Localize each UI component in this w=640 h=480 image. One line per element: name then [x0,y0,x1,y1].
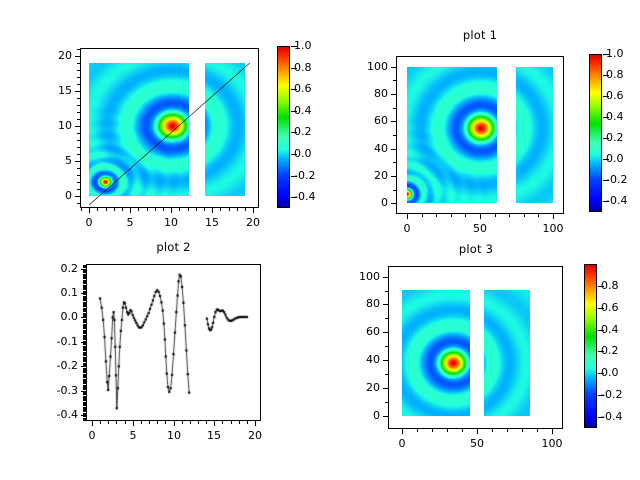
colorbar-plot0[interactable] [277,46,290,208]
minor-tick-y [83,371,86,372]
major-tick-x [407,214,408,219]
minor-tick-y [77,182,80,183]
minor-tick-y [83,274,86,275]
minor-tick-y [83,403,86,404]
minor-tick-y [83,322,86,323]
minor-tick-y [83,368,86,369]
colorbar-tick-label: 0.0 [606,153,624,164]
minor-tick-y [83,353,86,354]
minor-tick-y [83,381,86,382]
major-tick-y [75,56,80,57]
colorbar-tick-label: -0.4 [294,191,315,202]
y-tick-label: 20 [340,382,380,393]
minor-tick-y [83,385,86,386]
minor-tick-x [422,214,423,217]
minor-tick-y [83,397,86,398]
y-tick-label: 0 [340,410,380,421]
minor-tick-y [83,321,86,322]
x-tick-label: 0 [382,438,422,449]
axes-frame-plot3[interactable] [388,266,563,429]
minor-tick-y [393,108,396,109]
minor-tick-y [83,350,86,351]
x-tick-label: 20 [235,430,275,441]
colorbar-tick-label: 0.8 [606,69,624,80]
minor-tick-y [83,408,86,409]
major-tick-y [383,360,388,361]
minor-tick-y [77,63,80,64]
minor-tick-x [198,421,199,424]
minor-tick-x [462,429,463,432]
y-tick-label: -0.3 [38,385,78,396]
heatmap-patch [205,63,245,196]
minor-tick-x [190,421,191,424]
minor-tick-y [83,386,86,387]
minor-tick-y [83,410,86,411]
minor-tick-y [83,277,86,278]
minor-tick-y [83,272,86,273]
major-tick-y [81,269,86,270]
x-tick-label: 50 [457,438,497,449]
minor-tick-y [83,282,86,283]
minor-tick-y [83,377,86,378]
minor-tick-x [97,208,98,211]
minor-tick-y [83,361,86,362]
minor-tick-y [83,347,86,348]
y-tick-label: 20 [32,50,72,61]
y-tick-label: 5 [32,155,72,166]
minor-tick-x [116,421,117,424]
colorbar-tick-label: 0.6 [294,83,312,94]
minor-tick-y [83,335,86,336]
colorbar-tick-label: 0.4 [601,324,619,335]
minor-tick-x [81,208,82,211]
y-tick-label: -0.1 [38,336,78,347]
minor-tick-y [385,374,388,375]
minor-tick-y [393,80,396,81]
minor-tick-y [83,336,86,337]
minor-tick-y [83,267,86,268]
y-tick-label: 40 [340,354,380,365]
heatmap-patch [89,63,189,196]
minor-tick-y [83,354,86,355]
y-tick-label: 10 [32,120,72,131]
minor-tick-y [83,357,86,358]
colorbar-tick-label: 0.8 [294,62,312,73]
minor-tick-x [436,214,437,217]
colorbar-tick-label: -0.4 [606,195,627,206]
y-tick-label: 15 [32,85,72,96]
minor-tick-y [83,355,86,356]
minor-tick-x [206,421,207,424]
major-tick-y [75,91,80,92]
minor-tick-y [83,325,86,326]
minor-tick-x [222,421,223,424]
colorbar-tick-label: 0.0 [294,148,312,159]
major-tick-x [255,421,256,426]
minor-tick-x [524,214,525,217]
y-tick-label: 80 [348,88,388,99]
minor-tick-x [239,421,240,424]
major-tick-y [391,67,396,68]
minor-tick-y [83,413,86,414]
colorbar-tick-label: 0.6 [606,90,624,101]
minor-tick-y [83,311,86,312]
minor-tick-y [83,339,86,340]
major-tick-y [391,149,396,150]
major-tick-x [253,208,254,213]
minor-tick-x [522,429,523,432]
minor-tick-y [83,300,86,301]
minor-tick-y [83,418,86,419]
minor-tick-x [114,208,115,211]
minor-tick-y [77,105,80,106]
minor-tick-x [155,208,156,211]
minor-tick-y [83,358,86,359]
y-tick-label: -0.2 [38,360,78,371]
minor-tick-x [432,429,433,432]
minor-tick-y [83,382,86,383]
minor-tick-x [447,429,448,432]
minor-tick-y [83,376,86,377]
minor-tick-y [83,286,86,287]
colorbar-tick-label: 0.6 [601,302,619,313]
minor-tick-x [492,429,493,432]
minor-tick-y [83,352,86,353]
y-tick-label: 20 [348,170,388,181]
major-tick-x [133,421,134,426]
minor-tick-x [231,421,232,424]
minor-tick-y [77,70,80,71]
minor-tick-y [83,392,86,393]
minor-tick-y [385,402,388,403]
minor-tick-y [77,133,80,134]
minor-tick-y [83,402,86,403]
minor-tick-x [465,214,466,217]
major-tick-y [75,126,80,127]
minor-tick-y [83,389,86,390]
major-tick-y [81,391,86,392]
y-tick-label: 0.1 [38,287,78,298]
major-tick-y [383,388,388,389]
colorbar-plot3[interactable] [584,264,597,428]
major-tick-y [81,293,86,294]
x-tick-label: 10 [154,430,194,441]
minor-tick-y [83,346,86,347]
y-tick-label: 60 [340,326,380,337]
minor-tick-y [83,328,86,329]
colorbar-tick-label: -0.2 [606,174,627,185]
minor-tick-y [83,303,86,304]
minor-tick-y [77,84,80,85]
minor-tick-y [83,343,86,344]
minor-tick-x [149,421,150,424]
y-tick-label: 100 [348,61,388,72]
y-tick-label: 0 [32,190,72,201]
x-tick-label: 100 [532,438,572,449]
x-tick-label: 20 [233,217,273,228]
colorbar-tick-label: 0.2 [601,345,619,356]
minor-tick-y [83,320,86,321]
minor-tick-y [83,359,86,360]
major-tick-y [391,121,396,122]
panel-title-plot1: plot 1 [380,28,580,42]
minor-tick-y [83,337,86,338]
major-tick-y [383,332,388,333]
minor-tick-y [83,400,86,401]
minor-tick-y [83,404,86,405]
minor-tick-y [83,276,86,277]
minor-tick-y [83,394,86,395]
major-tick-x [553,214,554,219]
line-series-canvas [87,265,260,420]
major-tick-x [171,208,172,213]
major-tick-y [391,203,396,204]
minor-tick-x [125,421,126,424]
colorbar-tick-label: 0.4 [606,111,624,122]
major-tick-y [75,161,80,162]
minor-tick-y [83,299,86,300]
axes-frame-plot0[interactable] [80,48,259,208]
minor-tick-y [83,304,86,305]
y-tick-label: 100 [340,271,380,282]
minor-tick-x [417,429,418,432]
colorbar-tick-label: 1.0 [606,48,624,59]
minor-tick-x [245,208,246,211]
minor-tick-y [77,203,80,204]
x-tick-label: 5 [110,217,150,228]
minor-tick-x [220,208,221,211]
minor-tick-y [83,275,86,276]
minor-tick-y [393,135,396,136]
minor-tick-y [83,380,86,381]
minor-tick-y [83,266,86,267]
minor-tick-y [77,189,80,190]
major-tick-y [81,342,86,343]
minor-tick-y [77,77,80,78]
major-tick-y [81,415,86,416]
minor-tick-y [83,297,86,298]
minor-tick-y [83,280,86,281]
minor-tick-x [106,208,107,211]
minor-tick-y [83,409,86,410]
minor-tick-y [83,416,86,417]
minor-tick-x [507,429,508,432]
minor-tick-x [509,214,510,217]
x-tick-label: 15 [194,430,234,441]
minor-tick-y [77,140,80,141]
minor-tick-y [83,332,86,333]
minor-tick-x [247,421,248,424]
minor-tick-x [179,208,180,211]
minor-tick-x [196,208,197,211]
minor-tick-y [77,49,80,50]
minor-tick-y [77,147,80,148]
minor-tick-y [83,364,86,365]
heatmap-patch [407,67,497,203]
minor-tick-x [122,208,123,211]
minor-tick-y [83,374,86,375]
minor-tick-y [83,285,86,286]
major-tick-y [81,317,86,318]
major-tick-y [383,304,388,305]
minor-tick-y [83,270,86,271]
colorbar-tick-label: 1.0 [294,40,312,51]
minor-tick-y [83,302,86,303]
minor-tick-y [83,330,86,331]
minor-tick-y [83,326,86,327]
major-tick-x [402,429,403,434]
minor-tick-x [163,208,164,211]
minor-tick-y [83,308,86,309]
major-tick-x [89,208,90,213]
heatmap-patch [516,67,553,203]
major-tick-y [383,277,388,278]
minor-tick-y [83,388,86,389]
minor-tick-y [83,271,86,272]
x-tick-label: 0 [387,223,427,234]
minor-tick-y [83,419,86,420]
minor-tick-x [538,214,539,217]
minor-tick-y [83,383,86,384]
minor-tick-y [83,278,86,279]
x-tick-label: 0 [72,430,112,441]
minor-tick-y [385,346,388,347]
minor-tick-y [77,119,80,120]
panel-title-plot3: plot 3 [372,242,580,256]
minor-tick-y [77,98,80,99]
x-tick-label: 50 [460,223,500,234]
minor-tick-x [451,214,452,217]
minor-tick-y [83,294,86,295]
minor-tick-x [100,421,101,424]
y-tick-label: 0.2 [38,263,78,274]
minor-tick-y [83,379,86,380]
major-tick-x [480,214,481,219]
minor-tick-x [165,421,166,424]
minor-tick-y [83,288,86,289]
x-tick-label: 100 [533,223,573,234]
colorbar-tick-label: 0.8 [601,280,619,291]
heatmap-patch [402,290,470,416]
minor-tick-y [83,348,86,349]
colorbar-tick-label: -0.2 [601,389,622,400]
minor-tick-y [385,291,388,292]
x-tick-label: 0 [69,217,109,228]
x-tick-label: 5 [113,430,153,441]
major-tick-x [174,421,175,426]
minor-tick-y [83,319,86,320]
minor-tick-y [83,265,86,266]
minor-tick-y [83,281,86,282]
colorbar-tick-label: -0.4 [601,411,622,422]
minor-tick-y [83,360,86,361]
minor-tick-y [77,154,80,155]
colorbar-plot1[interactable] [589,54,602,212]
y-tick-label: 80 [340,298,380,309]
axes-frame-plot2[interactable] [86,264,261,421]
minor-tick-y [83,420,86,421]
minor-tick-x [182,421,183,424]
minor-tick-x [138,208,139,211]
minor-tick-y [83,298,86,299]
minor-tick-y [83,291,86,292]
minor-tick-y [83,315,86,316]
minor-tick-y [393,190,396,191]
minor-tick-y [83,327,86,328]
y-tick-label: 40 [348,143,388,154]
minor-tick-y [83,310,86,311]
major-tick-y [81,366,86,367]
y-tick-label: 0 [348,197,388,208]
minor-tick-x [229,208,230,211]
colorbar-tick-label: 0.0 [601,367,619,378]
minor-tick-y [83,331,86,332]
minor-tick-x [157,421,158,424]
colorbar-tick-label: 0.2 [606,132,624,143]
major-tick-y [391,176,396,177]
major-tick-y [391,94,396,95]
minor-tick-x [537,429,538,432]
minor-tick-y [83,407,86,408]
minor-tick-y [385,318,388,319]
colorbar-tick-label: 0.2 [294,126,312,137]
minor-tick-x [237,208,238,211]
panel-title-plot2: plot 2 [66,240,281,254]
minor-tick-y [83,411,86,412]
minor-tick-x [204,208,205,211]
major-tick-x [477,429,478,434]
minor-tick-y [83,309,86,310]
minor-tick-y [83,363,86,364]
minor-tick-y [83,398,86,399]
minor-tick-y [83,306,86,307]
minor-tick-y [83,370,86,371]
minor-tick-y [393,162,396,163]
axes-frame-plot1[interactable] [396,56,564,214]
minor-tick-x [188,208,189,211]
minor-tick-y [83,287,86,288]
x-tick-label: 15 [192,217,232,228]
major-tick-y [383,416,388,417]
minor-tick-x [108,421,109,424]
major-tick-x [552,429,553,434]
minor-tick-y [83,393,86,394]
minor-tick-y [83,314,86,315]
minor-tick-y [83,396,86,397]
major-tick-x [92,421,93,426]
minor-tick-y [83,296,86,297]
minor-tick-x [495,214,496,217]
minor-tick-y [83,289,86,290]
y-tick-label: -0.4 [38,409,78,420]
minor-tick-y [83,324,86,325]
minor-tick-y [77,112,80,113]
minor-tick-y [83,305,86,306]
x-tick-label: 10 [151,217,191,228]
major-tick-x [214,421,215,426]
minor-tick-y [77,175,80,176]
minor-tick-y [83,313,86,314]
minor-tick-y [77,168,80,169]
major-tick-y [75,196,80,197]
minor-tick-y [83,349,86,350]
minor-tick-y [83,344,86,345]
minor-tick-y [83,283,86,284]
colorbar-tick-label: 0.4 [294,105,312,116]
heatmap-patch [484,290,530,416]
minor-tick-y [83,387,86,388]
minor-tick-y [83,333,86,334]
